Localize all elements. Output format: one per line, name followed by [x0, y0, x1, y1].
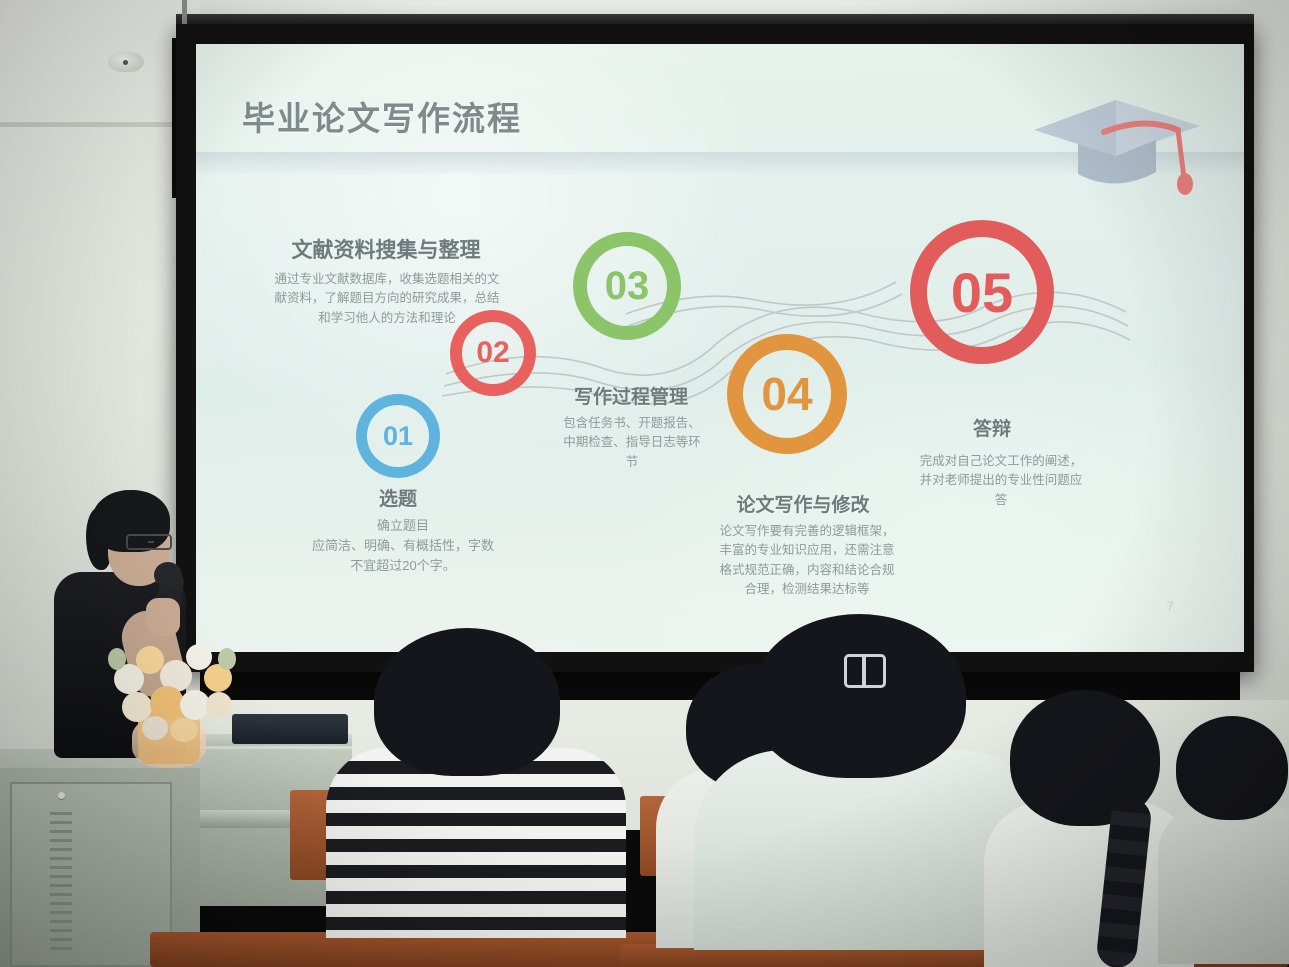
audience-hair — [1176, 716, 1288, 820]
step-circle-01: 01 — [356, 394, 440, 478]
laptop-on-podium — [232, 714, 348, 744]
step-title-03: 写作过程管理 — [556, 382, 706, 409]
step-title-05: 答辩 — [912, 414, 1072, 441]
cabinet-panel — [10, 782, 172, 967]
header-block-title: 文献资料搜集与整理 — [276, 234, 496, 264]
wall-trim-band — [0, 122, 200, 127]
cabinet-lock-icon — [58, 792, 65, 799]
step-desc-01: 确立题目 应简洁、明确、有概括性，字数 不宜超过20个字。 — [258, 516, 548, 576]
step-number-03: 03 — [605, 264, 650, 309]
projected-slide: 毕业论文写作流程 文献资料搜集与整理 通过专业文献数据库，收集选题相关的文献资料… — [196, 44, 1244, 652]
hair-clip-icon — [844, 654, 886, 688]
flower-bouquet — [108, 634, 238, 746]
microphone-head — [154, 562, 182, 588]
audience-hair — [374, 628, 560, 776]
cabinet-vents — [50, 812, 72, 962]
step-title-01: 选题 — [328, 484, 468, 511]
step-desc-03: 包含任务书、开题报告、 中期检查、指导日志等环 节 — [548, 414, 716, 472]
step-desc-04: 论文写作要有完善的逻辑框架， 丰富的专业知识应用，还需注意 格式规范正确，内容和… — [696, 522, 918, 600]
step-title-04: 论文写作与修改 — [708, 490, 898, 517]
smoke-detector-icon — [108, 52, 144, 72]
step-number-04: 04 — [761, 367, 812, 421]
step-number-01: 01 — [383, 421, 413, 452]
slide-page-number: 7 — [1166, 598, 1174, 614]
lecture-hall-photo: 毕业论文写作流程 文献资料搜集与整理 通过专业文献数据库，收集选题相关的文献资料… — [0, 0, 1289, 967]
audience-hair — [752, 614, 966, 778]
step-number-02: 02 — [476, 336, 509, 370]
step-desc-05: 完成对自己论文工作的阐述， 并对老师提出的专业性问题应 答 — [896, 452, 1106, 510]
audience-body — [326, 748, 626, 938]
step-circle-02: 02 — [450, 310, 536, 396]
presenter-hand — [146, 598, 180, 636]
step-circle-05: 05 — [910, 220, 1054, 364]
step-circle-04: 04 — [727, 334, 847, 454]
step-number-05: 05 — [951, 260, 1013, 325]
audience-body — [1158, 804, 1289, 964]
step-circle-03: 03 — [573, 232, 681, 340]
presenter-glasses-icon — [126, 534, 172, 550]
